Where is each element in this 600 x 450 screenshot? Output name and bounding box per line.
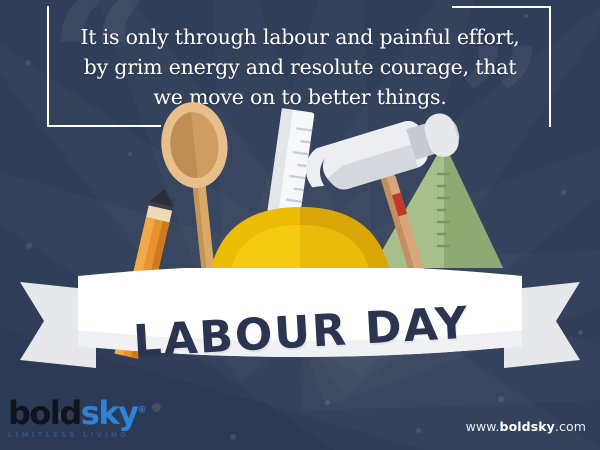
quote-line: by grim energy and resolute courage, tha… [52, 52, 548, 82]
quote-line: It is only through labour and painful ef… [52, 22, 548, 52]
labour-day-poster: “ ” It is only through labour and painfu… [0, 0, 600, 450]
website-url[interactable]: www.boldsky.com [466, 419, 586, 434]
logo-sky-text: sky [81, 394, 138, 432]
background-dot [230, 434, 236, 440]
background-dot [26, 60, 31, 65]
quote-text: It is only through labour and painful ef… [52, 22, 548, 112]
logo-wordmark: boldsky® [8, 397, 145, 429]
url-prefix: www. [466, 419, 500, 434]
boldsky-logo[interactable]: boldsky® LIMITLESS LIVING [8, 397, 145, 438]
background-dot [416, 428, 421, 433]
url-brand: boldsky [500, 419, 555, 434]
background-dot [325, 400, 330, 405]
url-suffix: .com [555, 419, 586, 434]
background-dot [152, 403, 161, 412]
ribbon-banner [0, 268, 600, 388]
background-dot [498, 396, 504, 402]
logo-tagline: LIMITLESS LIVING [8, 431, 145, 438]
registered-mark-icon: ® [137, 405, 145, 415]
logo-bold-text: bold [8, 394, 81, 432]
